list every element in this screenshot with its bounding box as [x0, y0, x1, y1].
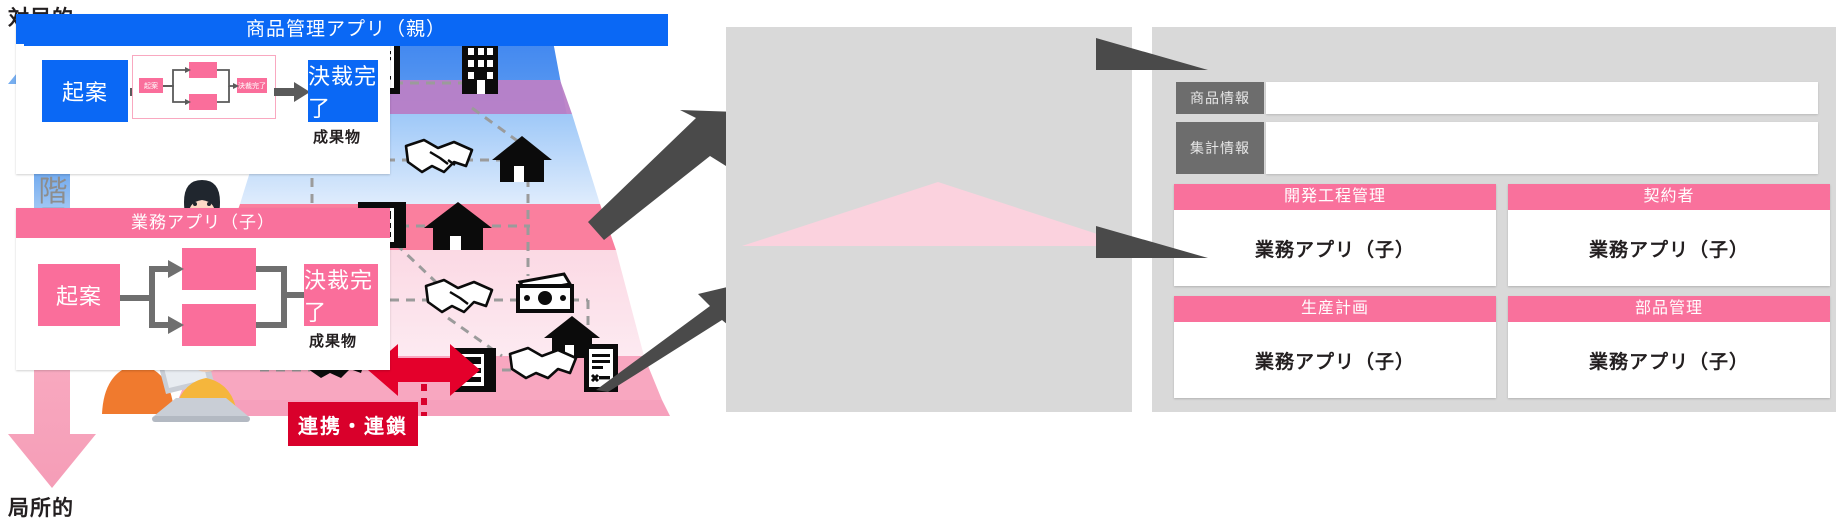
child-task-box-1 [182, 248, 256, 290]
connector-arrow-to-child [590, 272, 740, 392]
parent-end-box: 決裁完了 [308, 60, 378, 122]
subcard-title: 生産計画 [1174, 296, 1496, 322]
subcard-dev-process[interactable]: 開発工程管理 業務アプリ（子） [1174, 184, 1496, 286]
middle-panel [726, 27, 1132, 412]
subcard-body: 業務アプリ（子） [1508, 210, 1830, 286]
money-icon [518, 274, 572, 311]
child-app-title: 業務アプリ（子） [16, 208, 390, 238]
field-value-product-info[interactable] [1266, 82, 1818, 114]
nested-connectors [133, 56, 275, 118]
child-start-box: 起案 [38, 264, 120, 326]
arrow-right-icon [274, 82, 310, 102]
parent-start-box: 起案 [42, 60, 128, 122]
nested-workflow-diagram: 起案 決裁完了 [132, 55, 276, 119]
subcard-body: 業務アプリ（子） [1508, 322, 1830, 398]
axis-bottom-label: 局所的 [8, 492, 74, 522]
subcard-production-plan[interactable]: 生産計画 業務アプリ（子） [1174, 296, 1496, 398]
arrow-parent-to-right [1096, 36, 1208, 78]
subcard-parts-management[interactable]: 部品管理 業務アプリ（子） [1508, 296, 1830, 398]
field-value-aggregate-info[interactable] [1266, 122, 1818, 174]
arrow-child-to-right [1096, 222, 1208, 264]
link-banner: 連携・連鎖 [288, 402, 418, 446]
field-key-product-info: 商品情報 [1176, 82, 1264, 114]
child-task-box-2 [182, 304, 256, 346]
subcard-body: 業務アプリ（子） [1174, 210, 1496, 286]
building-icon [462, 40, 498, 94]
subcard-title: 開発工程管理 [1174, 184, 1496, 210]
field-key-aggregate-info: 集計情報 [1176, 122, 1264, 174]
right-panel-title: 商品管理アプリ（親） [24, 14, 668, 46]
child-end-box: 決裁完了 [304, 264, 378, 326]
subcard-title: 契約者 [1508, 184, 1830, 210]
connector-arrow-to-parent [588, 110, 738, 240]
child-app-card: 業務アプリ（子） 起案 決裁完了 成果物 [16, 208, 390, 370]
subcard-title: 部品管理 [1508, 296, 1830, 322]
child-deliverable-label: 成果物 [309, 330, 357, 351]
subcard-contractor[interactable]: 契約者 業務アプリ（子） [1508, 184, 1830, 286]
subcard-body: 業務アプリ（子） [1174, 322, 1496, 398]
parent-deliverable-label: 成果物 [313, 126, 361, 147]
